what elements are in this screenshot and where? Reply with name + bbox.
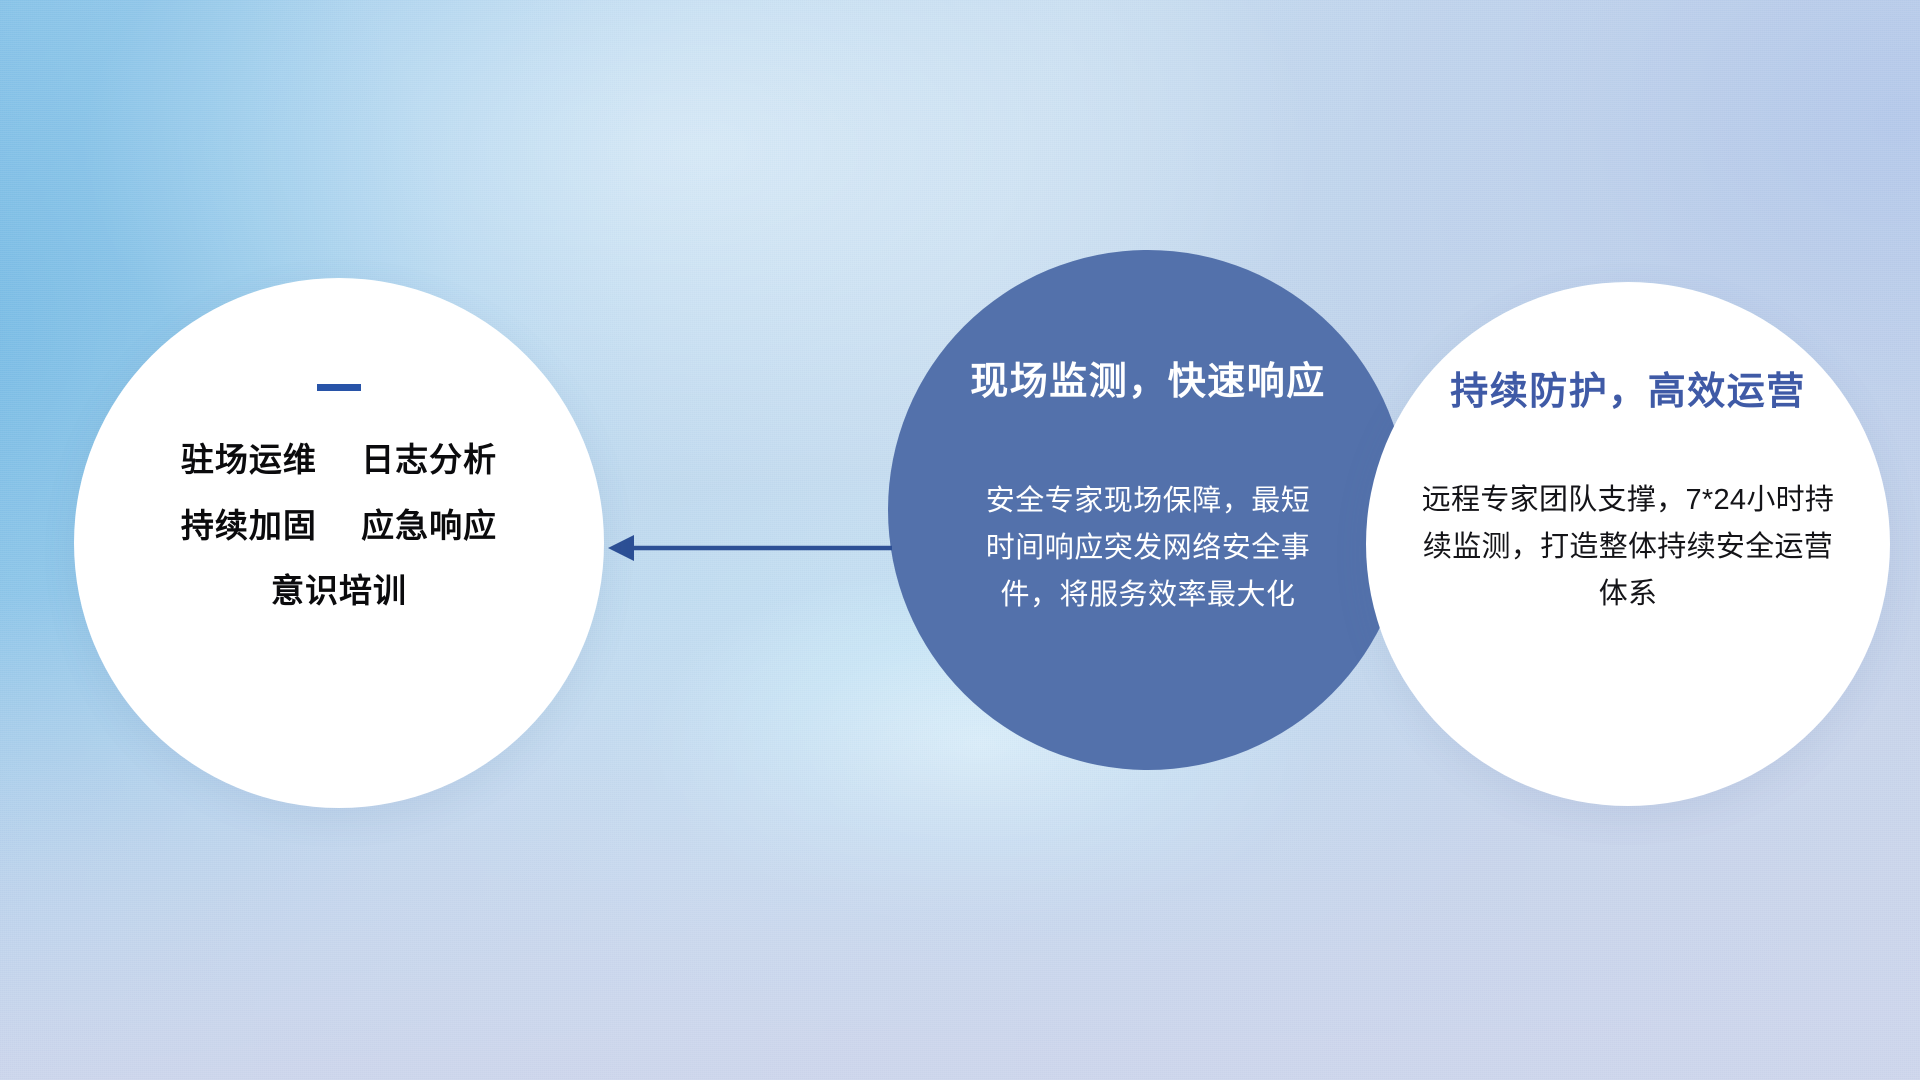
keyword-chip: 驻场运维 (181, 443, 317, 478)
left-keyword-row-2: 持续加固 应急响应 (181, 509, 497, 544)
left-keyword-row-1: 驻场运维 日志分析 (181, 443, 497, 478)
flow-arrow-left (604, 524, 894, 572)
accent-rule-divider (317, 384, 361, 391)
middle-circle-title: 现场监测，快速响应 (970, 350, 1326, 405)
middle-circle-body: 安全专家现场保障，最短时间响应突发网络安全事件，将服务效率最大化 (983, 478, 1313, 619)
left-keyword-row-3: 意识培训 (271, 574, 407, 609)
infographic-canvas: 驻场运维 日志分析 持续加固 应急响应 意识培训 现场监测，快速响应 安全专家现… (0, 0, 1920, 1080)
keyword-chip: 应急响应 (361, 509, 497, 544)
keyword-chip: 意识培训 (271, 574, 407, 609)
left-circle-content: 驻场运维 日志分析 持续加固 应急响应 意识培训 (74, 278, 604, 808)
right-circle-content: 持续防护，高效运营 远程专家团队支撑，7*24小时持续监测，打造整体持续安全运营… (1366, 282, 1890, 806)
keyword-chip: 持续加固 (181, 509, 317, 544)
middle-circle-content: 现场监测，快速响应 安全专家现场保障，最短时间响应突发网络安全事件，将服务效率最… (888, 250, 1408, 770)
right-circle-title: 持续防护，高效运营 (1450, 360, 1806, 415)
right-circle-body: 远程专家团队支撑，7*24小时持续监测，打造整体持续安全运营体系 (1416, 477, 1840, 618)
keyword-chip: 日志分析 (361, 443, 497, 478)
